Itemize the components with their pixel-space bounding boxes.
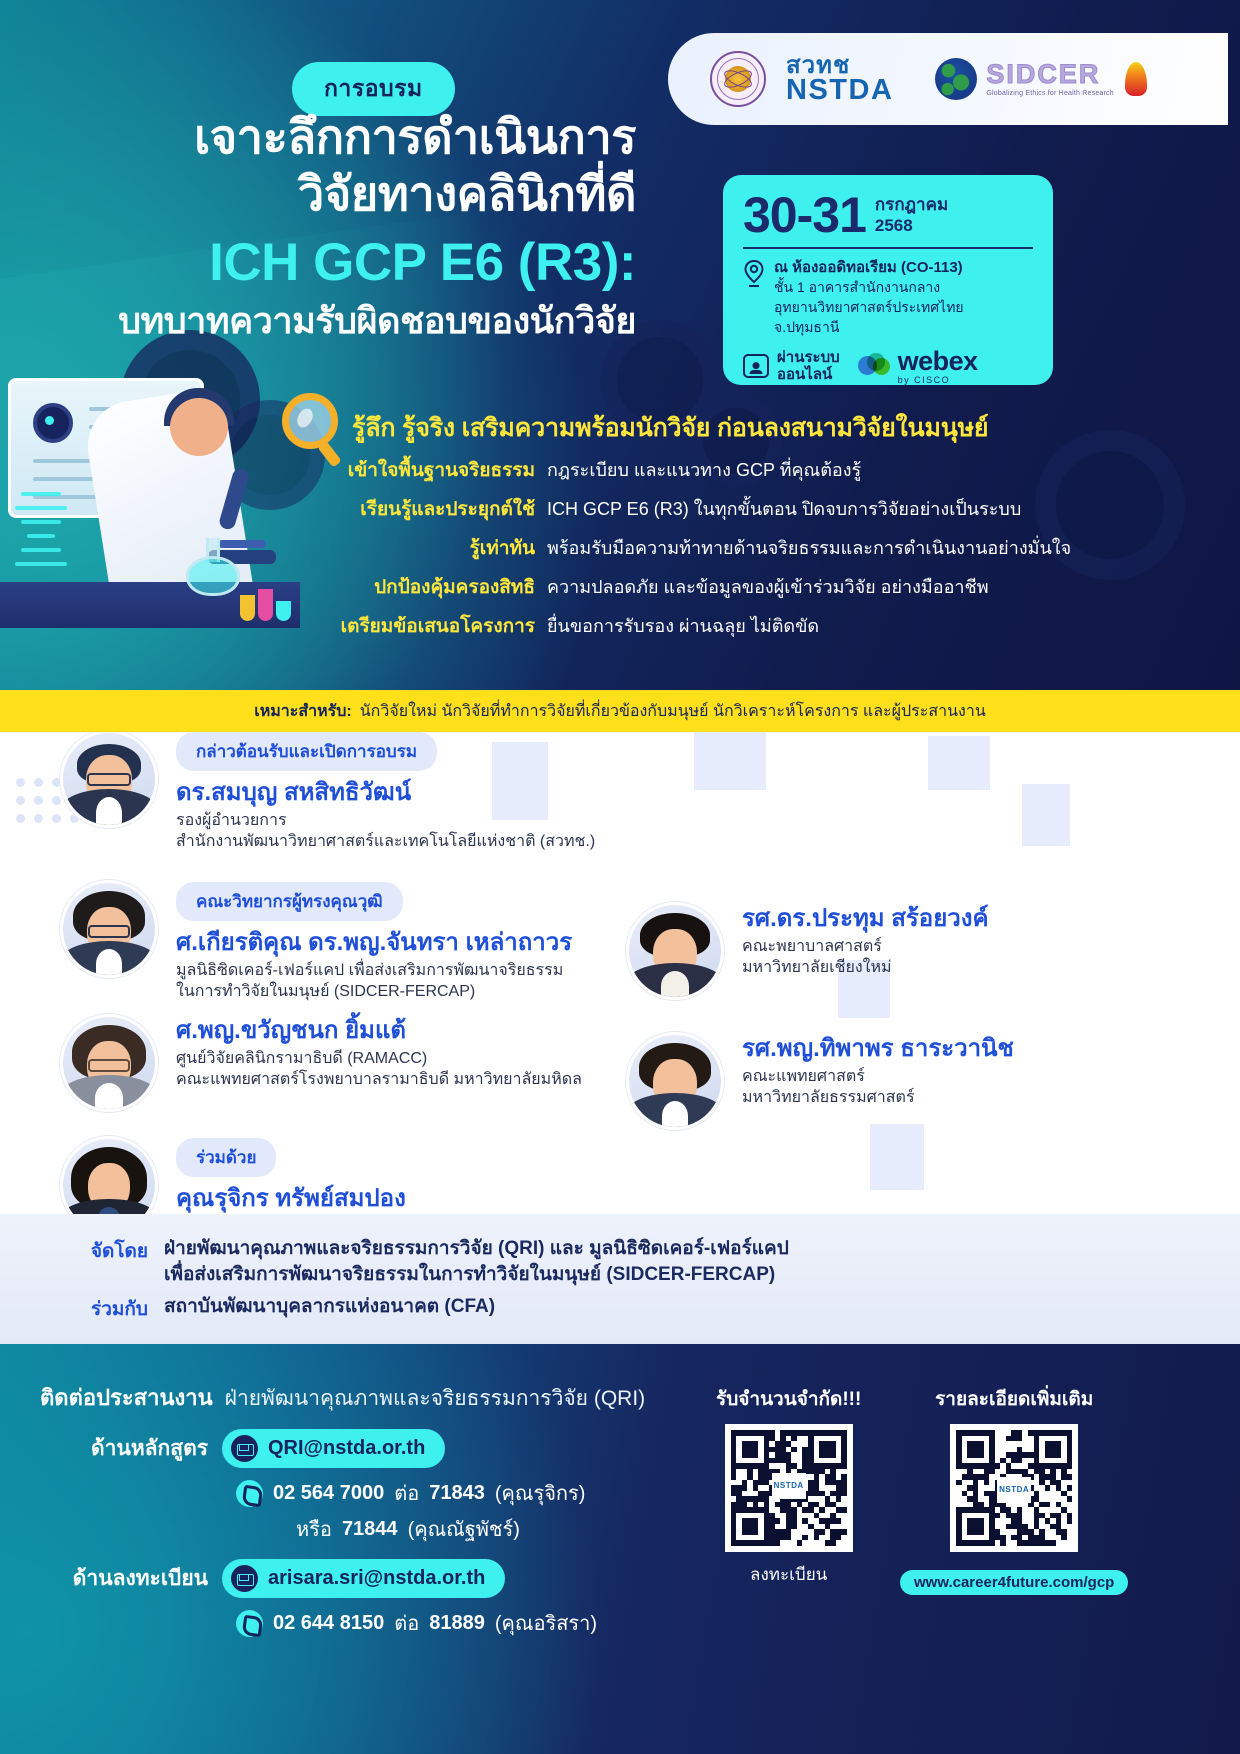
qr-detail-title: รายละเอียดเพิ่มเติม [900,1384,1128,1414]
square-decoration [870,1124,924,1190]
course-phone-number: 02 564 7000 [273,1482,384,1505]
webex-name: webex [898,348,978,375]
registration-label: ด้านลงทะเบียน [40,1562,208,1595]
event-date-row: 30-31 กรกฎาคม 2568 [743,191,1033,239]
qr-detail-caption[interactable]: www.career4future.com/gcp [900,1570,1128,1595]
title-line-3-course-code: ICH GCP E6 (R3): [0,229,636,298]
speaker-affiliation-2: ในการทำวิจัยในมนุษย์ (SIDCER-FERCAP) [176,981,572,1002]
event-date-year: 2568 [875,216,948,237]
speaker-role-chip: ร่วมด้วย [176,1138,276,1177]
email-icon [231,1565,258,1592]
flame-icon [1125,62,1147,96]
organized-by-label: จัดโดย [38,1236,148,1266]
registration-phone-ext-label: ต่อ [394,1607,419,1639]
hero-headline: รู้ลึก รู้จริง เสริมความพร้อมนักวิจัย ก่… [352,408,1080,448]
benefit-key: เรียนรู้และประยุกต์ใช้ [300,494,547,524]
speakers-section: กล่าวต้อนรับและเปิดการอบรม ดร.สมบุญ สหสิ… [0,732,1240,1214]
title-line-4-subtitle: บทบาทความรับผิดชอบของนักวิจัย [0,298,636,345]
benefit-item: เรียนรู้และประยุกต์ใช้ ICH GCP E6 (R3) ใ… [300,494,1090,524]
course-email-text: QRI@nstda.or.th [268,1437,425,1460]
online-label-2: ออนไลน์ [777,366,832,383]
course-phone-ext-number: 71843 [429,1482,485,1505]
course-label: ด้านหลักสูตร [40,1432,208,1465]
benefit-value: ICH GCP E6 (R3) ในทุกขั้นตอน ปิดจบการวิจ… [547,494,1021,523]
speaker-card: ศ.พญ.ขวัญชนก ยิ้มแต้ ศูนย์วิจัยคลินิกราม… [60,1014,620,1112]
course-phone-ext-number-2: 71844 [342,1518,398,1541]
event-date-month: กรกฎาคม [875,195,948,216]
speaker-card: รศ.พญ.ทิพาพร ธาระวานิช คณะแพทยศาสตร์ มหา… [626,1032,1146,1130]
course-email-button[interactable]: QRI@nstda.or.th [222,1429,445,1468]
benefit-list: เข้าใจพื้นฐานจริยธรรม กฎระเบียบ และแนวทา… [300,455,1090,650]
course-phone-row[interactable]: 02 564 7000 ต่อ 71843 (คุณรุจิกร) [236,1477,700,1509]
partner-value: สถาบันพัฒนาบุคลากรแห่งอนาคต (CFA) [164,1294,495,1320]
registration-email-text: arisara.sri@nstda.or.th [268,1567,485,1590]
sidcer-name-label: SIDCER [986,61,1113,88]
audience-text: นักวิจัยใหม่ นักวิจัยที่ทำการวิจัยที่เกี… [360,699,986,724]
webex-mark-icon [858,353,892,379]
speaker-card: กล่าวต้อนรับและเปิดการอบรม ดร.สมบุญ สหสิ… [60,732,620,853]
venue-line-3: จ.ปทุมธานี [774,319,839,335]
venue-line-1: ชั้น 1 อาคารสำนักงานกลาง [774,279,940,295]
speaker-role-chip: กล่าวต้อนรับและเปิดการอบรม [176,732,437,771]
course-phone-alt-row[interactable]: หรือ 71844 (คุณณัฐพัชร์) [296,1513,700,1545]
qr-register-title: รับจำนวนจำกัด!!! [716,1384,861,1414]
online-monitor-icon [743,354,769,378]
lab-bench-graphic [0,582,300,628]
avatar [626,1032,724,1130]
phone-icon [236,1480,263,1507]
course-phone-ext-label: ต่อ [394,1477,419,1509]
phone-icon [236,1610,263,1637]
speaker-name: ศ.เกียรติคุณ ดร.พญ.จันทรา เหล่าถาวร [176,928,572,958]
course-contact-person: (คุณรุจิกร) [495,1477,586,1509]
registration-phone-ext-number: 81889 [429,1612,485,1635]
avatar [60,880,158,978]
speaker-affiliation-1: รองผู้อำนวยการ [176,810,595,831]
poster-title-block: เจาะลึกการดำเนินการ วิจัยทางคลินิกที่ดี … [0,108,660,344]
partner-label: ร่วมกับ [38,1294,148,1324]
speaker-affiliation-2: คณะแพทยศาสตร์โรงพยาบาลรามาธิบดี มหาวิทยา… [176,1069,582,1090]
sidcer-tagline: Globalizing Ethics for Health Research [986,90,1113,97]
organizer-section: จัดโดย ฝ่ายพัฒนาคุณภาพและจริยธรรมการวิจั… [0,1214,1240,1344]
square-decoration [928,736,990,790]
speaker-name: ดร.สมบุญ สหสิทธิวัฒน์ [176,778,595,808]
info-divider [743,247,1033,249]
event-info-card: 30-31 กรกฎาคม 2568 ณ ห้องออดิทอเรียม (CO… [723,175,1053,385]
nstda-english-label: NSTDA [786,76,893,105]
qr-register-caption: ลงทะเบียน [716,1561,861,1588]
registration-phone-row[interactable]: 02 644 8150 ต่อ 81889 (คุณอริสรา) [236,1607,700,1639]
course-contact-row: ด้านหลักสูตร QRI@nstda.or.th [40,1429,700,1468]
audience-label: เหมาะสำหรับ: [254,699,352,724]
petri-dish-icon [33,403,73,443]
speaker-affiliation-1: คณะพยาบาลศาสตร์ [742,936,989,957]
qr-logo-label: NSTDA [772,1473,806,1499]
avatar [60,1014,158,1112]
speaker-card: คณะวิทยากรผู้ทรงคุณวุฒิ ศ.เกียรติคุณ ดร.… [60,880,620,1003]
speaker-name: รศ.พญ.ทิพาพร ธาระวานิช [742,1034,1014,1064]
benefit-key: เตรียมข้อเสนอโครงการ [300,611,547,641]
benefit-item: เข้าใจพื้นฐานจริยธรรม กฎระเบียบ และแนวทา… [300,455,1090,485]
qr-detail-block: รายละเอียดเพิ่มเติม NSTDA www.career4fut… [900,1384,1128,1595]
researcher-head-graphic [170,398,228,456]
speaker-name: รศ.ดร.ประทุม สร้อยวงค์ [742,904,989,934]
online-platform-row: ผ่านระบบ ออนไลน์ webex by CISCO [743,348,1033,385]
webex-logo: webex by CISCO [858,348,978,385]
audience-banner: เหมาะสำหรับ: นักวิจัยใหม่ นักวิจัยที่ทำก… [0,690,1240,732]
benefit-value: ยื่นขอการรับรอง ผ่านฉลุย ไม่ติดขัด [547,611,819,640]
avatar [60,1136,158,1214]
course-phone-or-label: หรือ [296,1513,332,1545]
title-line-2: วิจัยทางคลินิกที่ดี [0,165,636,222]
globe-icon [935,58,977,100]
avatar [626,902,724,1000]
registration-email-button[interactable]: arisara.sri@nstda.or.th [222,1559,505,1598]
benefit-value: กฎระเบียบ และแนวทาง GCP ที่คุณต้องรู้ [547,455,861,484]
square-decoration [694,732,766,790]
online-label-1: ผ่านระบบ [777,349,840,366]
speaker-card: ร่วมด้วย คุณรุจิกร ทรัพย์สมปอง ฝ่ายพัฒนา… [60,1136,620,1214]
qr-logo-label: NSTDA [997,1477,1031,1503]
location-pin-icon [743,259,765,289]
speaker-name: คุณรุจิกร ทรัพย์สมปอง [176,1184,595,1214]
event-date-days: 30-31 [743,191,866,239]
benefit-item: เตรียมข้อเสนอโครงการ ยื่นขอการรับรอง ผ่า… [300,611,1090,641]
nstda-logo: สวทช NSTDA [786,54,893,105]
avatar [60,732,158,828]
contact-block: ติดต่อประสานงาน ฝ่ายพัฒนาคุณภาพและจริยธร… [40,1380,700,1639]
sidcer-logo: SIDCER Globalizing Ethics for Health Res… [935,58,1146,100]
speaker-affiliation-2: มหาวิทยาลัยธรรมศาสตร์ [742,1087,1014,1108]
organized-by-row: จัดโดย ฝ่ายพัฒนาคุณภาพและจริยธรรมการวิจั… [38,1236,858,1288]
contact-header: ติดต่อประสานงาน ฝ่ายพัฒนาคุณภาพและจริยธร… [40,1380,700,1415]
nstda-seal-icon [710,51,766,107]
contact-label: ติดต่อประสานงาน [40,1380,213,1415]
speaker-affiliation-1: ศูนย์วิจัยคลินิกรามาธิบดี (RAMACC) [176,1048,582,1069]
qr-detail-code[interactable]: NSTDA [950,1424,1078,1552]
contact-department: ฝ่ายพัฒนาคุณภาพและจริยธรรมการวิจัย (QRI) [225,1382,646,1415]
speaker-role-chip: คณะวิทยากรผู้ทรงคุณวุฒิ [176,882,403,921]
benefit-key: รู้เท่าทัน [300,533,547,563]
square-decoration [1022,784,1070,846]
speaker-name: ศ.พญ.ขวัญชนก ยิ้มแต้ [176,1016,582,1046]
speaker-affiliation-1: คณะแพทยศาสตร์ [742,1066,1014,1087]
venue-line-2: อุทยานวิทยาศาสตร์ประเทศไทย [774,299,964,315]
speaker-card: รศ.ดร.ประทุม สร้อยวงค์ คณะพยาบาลศาสตร์ ม… [626,902,1146,1000]
event-venue-row: ณ ห้องออดิทอเรียม (CO-113) ชั้น 1 อาคารส… [743,258,1033,339]
registration-phone-number: 02 644 8150 [273,1612,384,1635]
email-icon [231,1435,258,1462]
qr-register-block: รับจำนวนจำกัด!!! NSTDA ลงทะเบียน [716,1384,861,1588]
benefit-item: ปกป้องคุ้มครองสิทธิ ความปลอดภัย และข้อมู… [300,572,1090,602]
hero-section: การอบรม เจาะลึกการดำเนินการ วิจัยทางคลิน… [0,0,1240,690]
dna-strand-icon [14,492,68,578]
organized-by-line-1: ฝ่ายพัฒนาคุณภาพและจริยธรรมการวิจัย (QRI)… [164,1238,789,1259]
footer-section: ติดต่อประสานงาน ฝ่ายพัฒนาคุณภาพและจริยธร… [0,1344,1240,1754]
venue-name: ณ ห้องออดิทอเรียม (CO-113) [774,259,963,276]
title-line-1: เจาะลึกการดำเนินการ [0,108,636,165]
benefit-key: เข้าใจพื้นฐานจริยธรรม [300,455,547,485]
benefit-item: รู้เท่าทัน พร้อมรับมือความท้าทายด้านจริย… [300,533,1090,563]
qr-register-code[interactable]: NSTDA [725,1424,853,1552]
registration-contact-person: (คุณอริสรา) [495,1607,597,1639]
benefit-value: พร้อมรับมือความท้าทายด้านจริยธรรมและการด… [547,533,1071,562]
test-tube-icon [258,579,273,621]
scientist-illustration [0,372,300,627]
speaker-affiliation-2: มหาวิทยาลัยเชียงใหม่ [742,957,989,978]
registration-contact-row: ด้านลงทะเบียน arisara.sri@nstda.or.th [40,1559,700,1598]
organized-by-line-2: เพื่อส่งเสริมการพัฒนาจริยธรรมในการทำวิจั… [164,1264,775,1285]
flask-icon [186,538,240,596]
test-tube-icon [276,579,291,621]
logo-bar: สวทช NSTDA SIDCER Globalizing Ethics for… [668,33,1228,125]
benefit-key: ปกป้องคุ้มครองสิทธิ [300,572,547,602]
test-tube-icon [240,579,255,621]
course-contact-person-2: (คุณณัฐพัชร์) [408,1513,520,1545]
webex-byline: by CISCO [898,376,978,385]
speaker-affiliation-1: มูลนิธิซิดเคอร์-เฟอร์แคป เพื่อส่งเสริมกา… [176,960,572,981]
benefit-value: ความปลอดภัย และข้อมูลของผู้เข้าร่วมวิจัย… [547,572,989,601]
partner-row: ร่วมกับ สถาบันพัฒนาบุคลากรแห่งอนาคต (CFA… [38,1294,858,1324]
speaker-affiliation-2: สำนักงานพัฒนาวิทยาศาสตร์และเทคโนโลยีแห่ง… [176,831,595,852]
